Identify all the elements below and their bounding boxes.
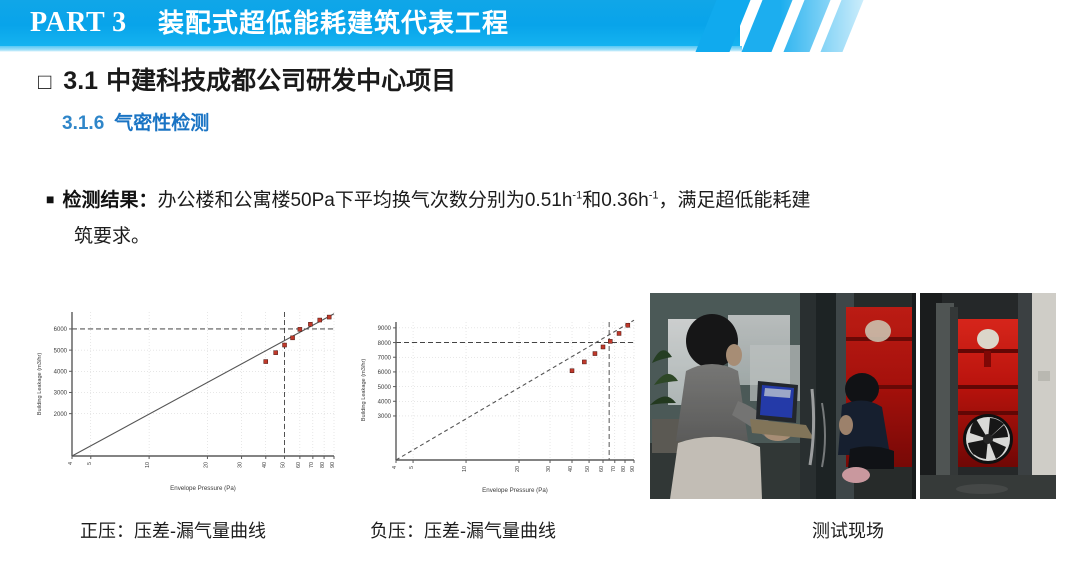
svg-text:5000: 5000: [378, 385, 392, 391]
chart1-y-tick-labels: 20003000400050006000: [54, 327, 72, 418]
svg-text:5: 5: [409, 466, 415, 469]
svg-text:3000: 3000: [378, 414, 392, 420]
svg-text:6000: 6000: [54, 327, 68, 333]
slide: PART 3 装配式超低能耗建筑代表工程 □3.1中建科技成都公司研发中心项目 …: [0, 0, 1080, 576]
svg-text:90: 90: [330, 462, 336, 468]
svg-text:4000: 4000: [54, 369, 68, 375]
positive-pressure-chart: 20003000400050006000 4510203040506070809…: [28, 298, 340, 498]
svg-text:80: 80: [621, 466, 627, 472]
superscript-1: -1: [572, 190, 582, 202]
subsection-heading: 3.1.6气密性检测: [62, 110, 209, 138]
section-number: 3.1: [63, 67, 98, 95]
photo1-svg: [650, 293, 916, 499]
caption-photos: 测试现场: [812, 518, 884, 544]
chart2-x-tick-labels: 45102030405060708090: [392, 460, 636, 472]
svg-text:20: 20: [515, 466, 521, 472]
svg-text:4: 4: [392, 466, 398, 469]
square-bullet-icon: □: [38, 69, 51, 94]
header-underline: [0, 46, 742, 52]
subsection-title: 气密性检测: [114, 113, 209, 134]
svg-text:7000: 7000: [378, 355, 392, 361]
svg-text:80: 80: [320, 462, 326, 468]
result-paragraph: ■检测结果：办公楼和公寓楼50Pa下平均换气次数分别为0.51h-1和0.36h…: [46, 180, 1046, 220]
svg-text:10: 10: [145, 462, 151, 468]
svg-text:10: 10: [462, 466, 468, 472]
positive-pressure-chart-svg: 20003000400050006000 4510203040506070809…: [28, 298, 340, 498]
chart2-fit-line: [396, 320, 634, 460]
chart1-x-tick-labels: 45102030405060708090: [68, 456, 336, 468]
svg-text:70: 70: [309, 462, 315, 468]
chart2-y-tick-labels: 3000400050006000700080009000: [378, 326, 396, 420]
superscript-2: -1: [649, 190, 659, 202]
part-label: PART 3: [30, 6, 127, 40]
result-text-part2: 和0.36h: [582, 190, 649, 211]
result-text-part3: ，满足超低能耗建: [659, 190, 811, 211]
svg-text:6000: 6000: [378, 370, 392, 376]
photo2-svg: [920, 293, 1056, 499]
testing-site-photo-2: [920, 293, 1056, 499]
svg-text:5000: 5000: [54, 348, 68, 354]
caption-chart2: 负压：压差-漏气量曲线: [370, 518, 556, 544]
filled-square-bullet-icon: ■: [46, 191, 54, 207]
svg-text:3000: 3000: [54, 391, 68, 397]
chart1-y-axis-label: Building Leakage (m3/hr): [37, 353, 43, 416]
svg-text:70: 70: [611, 466, 617, 472]
result-text-part1: 办公楼和公寓楼50Pa下平均换气次数分别为0.51h: [157, 190, 572, 211]
chart1-data-points: [264, 315, 331, 363]
svg-text:2000: 2000: [54, 412, 68, 418]
header-title: 装配式超低能耗建筑代表工程: [158, 5, 509, 41]
chart1-x-axis-label: Envelope Pressure (Pa): [170, 485, 236, 492]
chart2-data-points: [570, 323, 630, 373]
result-paragraph-line2: 筑要求。: [74, 218, 150, 256]
negative-pressure-chart-svg: 3000400050006000700080009000 45102030405…: [352, 298, 640, 498]
result-label: 检测结果：: [62, 190, 157, 211]
svg-text:30: 30: [546, 466, 552, 472]
svg-text:8000: 8000: [378, 341, 392, 347]
svg-text:5: 5: [87, 462, 93, 465]
svg-text:60: 60: [599, 466, 605, 472]
chart2-y-axis-label: Building Leakage (m3/hr): [361, 359, 367, 422]
svg-text:50: 50: [281, 462, 287, 468]
testing-site-photo-1: [650, 293, 916, 499]
svg-text:60: 60: [296, 462, 302, 468]
svg-text:30: 30: [238, 462, 244, 468]
stripes-fade-overlay: [700, 0, 900, 52]
chart1-fit-line: [72, 314, 334, 456]
chart2-reference-lines: [396, 322, 634, 460]
negative-pressure-chart: 3000400050006000700080009000 45102030405…: [352, 298, 640, 498]
slide-header: PART 3 装配式超低能耗建筑代表工程: [0, 0, 1080, 52]
svg-text:9000: 9000: [378, 326, 392, 332]
svg-text:40: 40: [568, 466, 574, 472]
page-title: □3.1中建科技成都公司研发中心项目: [38, 64, 456, 99]
svg-text:20: 20: [203, 462, 209, 468]
chart2-x-axis-label: Envelope Pressure (Pa): [482, 487, 548, 494]
section-title: 中建科技成都公司研发中心项目: [106, 67, 456, 95]
subsection-number: 3.1.6: [62, 113, 104, 134]
caption-chart1: 正压：压差-漏气量曲线: [80, 518, 266, 544]
svg-text:4: 4: [68, 462, 74, 465]
svg-text:4000: 4000: [378, 399, 392, 405]
svg-text:50: 50: [585, 466, 591, 472]
svg-text:90: 90: [630, 466, 636, 472]
svg-text:40: 40: [262, 462, 268, 468]
